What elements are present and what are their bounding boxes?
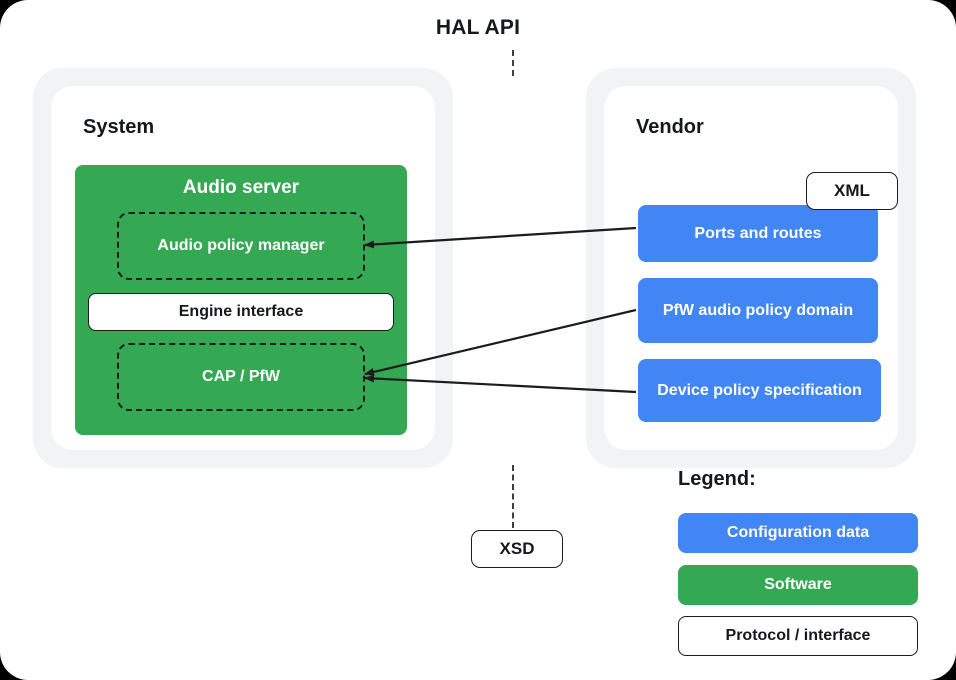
legend-item-protocol-interface: Protocol / interface — [678, 616, 918, 656]
diagram-canvas: HAL API System Audio server Audio policy… — [0, 0, 956, 680]
legend-item-software: Software — [678, 565, 918, 605]
audio-server-title: Audio server — [75, 177, 407, 199]
audio-server-block: Audio server Audio policy manager Engine… — [75, 165, 407, 435]
audio-policy-manager-box[interactable]: Audio policy manager — [117, 212, 365, 280]
pfw-audio-policy-domain-box[interactable]: PfW audio policy domain — [638, 278, 878, 343]
engine-interface-box[interactable]: Engine interface — [88, 293, 394, 331]
ports-and-routes-box[interactable]: Ports and routes — [638, 205, 878, 262]
device-policy-specification-box[interactable]: Device policy specification — [638, 359, 881, 422]
xml-badge[interactable]: XML — [806, 172, 898, 210]
hal-boundary-line-top — [512, 50, 514, 76]
hal-boundary-line-bottom — [512, 465, 514, 528]
vendor-label: Vendor — [636, 116, 704, 139]
system-label: System — [83, 116, 154, 139]
legend-item-label: Configuration data — [727, 524, 869, 542]
legend-item-configuration-data: Configuration data — [678, 513, 918, 553]
xsd-badge-label: XSD — [500, 539, 535, 559]
legend-item-label: Protocol / interface — [726, 627, 871, 645]
xsd-badge[interactable]: XSD — [471, 530, 563, 568]
legend-item-label: Software — [764, 576, 832, 594]
pfw-audio-policy-domain-label: PfW audio policy domain — [663, 301, 853, 321]
engine-interface-label: Engine interface — [179, 303, 303, 321]
legend-title: Legend: — [678, 468, 756, 491]
cap-pfw-box[interactable]: CAP / PfW — [117, 343, 365, 411]
device-policy-specification-label: Device policy specification — [657, 381, 862, 401]
ports-and-routes-label: Ports and routes — [694, 224, 821, 244]
cap-pfw-label: CAP / PfW — [202, 368, 280, 386]
page-title: HAL API — [0, 16, 956, 40]
xml-badge-label: XML — [834, 181, 870, 201]
audio-policy-manager-label: Audio policy manager — [157, 237, 324, 255]
